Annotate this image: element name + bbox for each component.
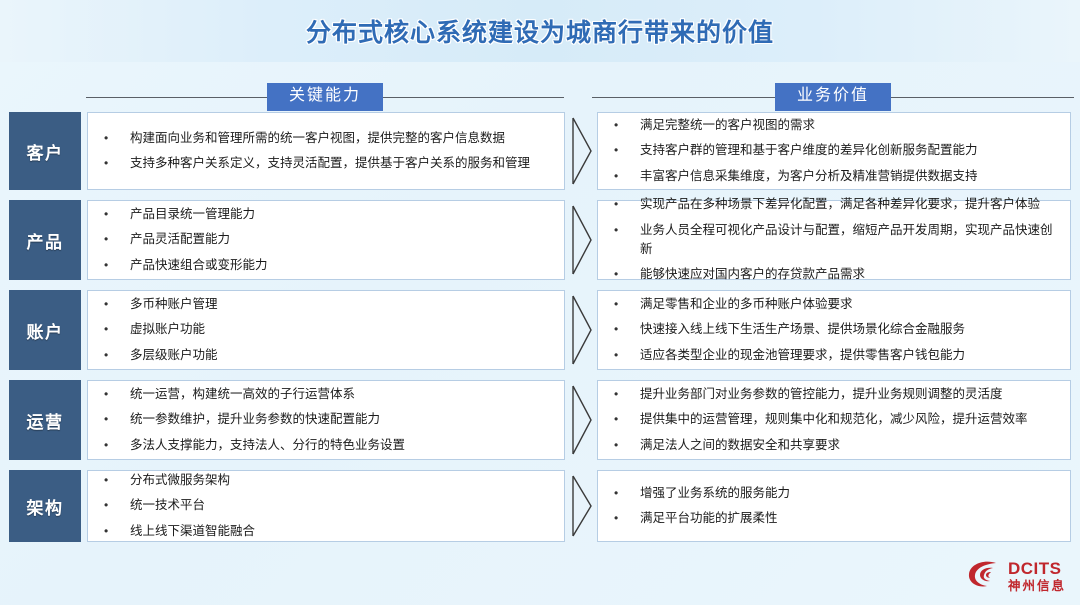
bullet-text: 构建面向业务和管理所需的统一客户视图，提供完整的客户信息数据 [130,129,554,148]
capability-box: •分布式微服务架构•统一技术平台•线上线下渠道智能融合 [87,470,565,542]
bullet-dot-icon: • [614,484,640,503]
page-title: 分布式核心系统建设为城商行带来的价值 [306,13,774,49]
value-bullet: •满足法人之间的数据安全和共享要求 [614,433,1060,458]
capability-bullet: •线上线下渠道智能融合 [104,519,554,544]
matrix-row: 账户•多币种账户管理•虚拟账户功能•多层级账户功能•满足零售和企业的多币种账户体… [0,290,1080,370]
bullet-text: 满足完整统一的客户视图的需求 [640,116,1060,135]
capability-bullet: •支持多种客户关系定义，支持灵活配置，提供基于客户关系的服务和管理 [104,151,554,176]
header-rule-right [383,97,564,98]
logo-text-cn: 神州信息 [1008,580,1066,593]
value-bullet: •增强了业务系统的服务能力 [614,481,1060,506]
company-logo: DCITS 神州信息 [966,558,1066,595]
bullet-text: 快速接入线上线下生活生产场景、提供场景化综合金融服务 [640,320,1060,339]
bullet-dot-icon: • [104,385,130,404]
bullet-text: 适应各类型企业的现金池管理要求，提供零售客户钱包能力 [640,346,1060,365]
value-bullet: •满足零售和企业的多币种账户体验要求 [614,292,1060,317]
capability-box: •统一运营，构建统一高效的子行运营体系•统一参数维护，提升业务参数的快速配置能力… [87,380,565,460]
bullet-dot-icon: • [104,154,130,173]
matrix-row: 产品•产品目录统一管理能力•产品灵活配置能力•产品快速组合或变形能力•实现产品在… [0,200,1080,280]
value-bullet: •业务人员全程可视化产品设计与配置，缩短产品开发周期，实现产品快速创新 [614,218,1060,263]
capability-box: •构建面向业务和管理所需的统一客户视图，提供完整的客户信息数据•支持多种客户关系… [87,112,565,190]
category-block[interactable]: 客户 [9,112,81,190]
capability-bullet: •产品目录统一管理能力 [104,202,554,227]
bullet-dot-icon: • [104,256,130,275]
bullet-dot-icon: • [614,265,640,284]
chevron-right-icon [571,116,593,186]
value-bullet: •能够快速应对国内客户的存贷款产品需求 [614,262,1060,287]
value-box: •增强了业务系统的服务能力•满足平台功能的扩展柔性 [597,470,1071,542]
bullet-dot-icon: • [614,346,640,365]
bullet-dot-icon: • [614,509,640,528]
matrix-row: 架构•分布式微服务架构•统一技术平台•线上线下渠道智能融合•增强了业务系统的服务… [0,470,1080,542]
bullet-text: 虚拟账户功能 [130,320,554,339]
flow-arrow-cell [565,290,597,370]
value-bullet: •满足完整统一的客户视图的需求 [614,113,1060,138]
bullet-text: 产品灵活配置能力 [130,230,554,249]
bullet-text: 满足平台功能的扩展柔性 [640,509,1060,528]
bullet-text: 满足零售和企业的多币种账户体验要求 [640,295,1060,314]
value-bullet: •提升业务部门对业务参数的管控能力，提升业务规则调整的灵活度 [614,382,1060,407]
capability-box: •产品目录统一管理能力•产品灵活配置能力•产品快速组合或变形能力 [87,200,565,280]
bullet-text: 线上线下渠道智能融合 [130,522,554,541]
category-block[interactable]: 架构 [9,470,81,542]
capability-bullet: •产品灵活配置能力 [104,227,554,252]
bullet-text: 提供集中的运营管理，规则集中化和规范化，减少风险，提升运营效率 [640,410,1060,429]
bullet-text: 提升业务部门对业务参数的管控能力，提升业务规则调整的灵活度 [640,385,1060,404]
bullet-text: 统一技术平台 [130,496,554,515]
logo-wordmark: DCITS 神州信息 [1008,560,1066,593]
value-box: •满足零售和企业的多币种账户体验要求•快速接入线上线下生活生产场景、提供场景化综… [597,290,1071,370]
category-block[interactable]: 产品 [9,200,81,280]
bullet-dot-icon: • [104,496,130,515]
capability-bullet: •多法人支撑能力，支持法人、分行的特色业务设置 [104,433,554,458]
chevron-right-icon [571,204,593,276]
bullet-dot-icon: • [614,141,640,160]
value-box: •实现产品在多种场景下差异化配置，满足各种差异化要求，提升客户体验•业务人员全程… [597,200,1071,280]
bullet-text: 支持多种客户关系定义，支持灵活配置，提供基于客户关系的服务和管理 [130,154,554,173]
header-rule-right [891,97,1074,98]
category-block[interactable]: 账户 [9,290,81,370]
header-rule-left [592,97,775,98]
bullet-text: 统一参数维护，提升业务参数的快速配置能力 [130,410,554,429]
chevron-right-icon [571,384,593,456]
capability-bullet: •构建面向业务和管理所需的统一客户视图，提供完整的客户信息数据 [104,126,554,151]
bullet-dot-icon: • [614,295,640,314]
category-block[interactable]: 运营 [9,380,81,460]
value-bullet: •提供集中的运营管理，规则集中化和规范化，减少风险，提升运营效率 [614,407,1060,432]
bullet-text: 能够快速应对国内客户的存贷款产品需求 [640,265,1060,284]
bullet-text: 产品目录统一管理能力 [130,205,554,224]
bullet-dot-icon: • [104,205,130,224]
bullet-dot-icon: • [614,116,640,135]
bullet-dot-icon: • [614,195,640,214]
bullet-dot-icon: • [104,320,130,339]
bullet-dot-icon: • [104,471,130,490]
bullet-text: 多法人支撑能力，支持法人、分行的特色业务设置 [130,436,554,455]
bullet-dot-icon: • [104,522,130,541]
matrix-rows: 客户•构建面向业务和管理所需的统一客户视图，提供完整的客户信息数据•支持多种客户… [0,112,1080,542]
flow-arrow-cell [565,470,597,542]
bullet-dot-icon: • [104,230,130,249]
column-header-business-value: 业务价值 [592,82,1074,112]
capability-bullet: •统一参数维护，提升业务参数的快速配置能力 [104,407,554,432]
capability-bullet: •统一技术平台 [104,493,554,518]
capability-bullet: •多币种账户管理 [104,292,554,317]
bullet-text: 统一运营，构建统一高效的子行运营体系 [130,385,554,404]
value-bullet: •丰富客户信息采集维度，为客户分析及精准营销提供数据支持 [614,164,1060,189]
flow-arrow-cell [565,380,597,460]
bullet-dot-icon: • [104,346,130,365]
bullet-dot-icon: • [614,320,640,339]
bullet-dot-icon: • [614,410,640,429]
chevron-right-icon [571,294,593,366]
value-bullet: •适应各类型企业的现金池管理要求，提供零售客户钱包能力 [614,343,1060,368]
bullet-text: 产品快速组合或变形能力 [130,256,554,275]
column-header-left-label: 关键能力 [267,83,383,110]
header-rule-left [86,97,267,98]
capability-bullet: •分布式微服务架构 [104,468,554,493]
value-bullet: •实现产品在多种场景下差异化配置，满足各种差异化要求，提升客户体验 [614,192,1060,217]
capability-bullet: •虚拟账户功能 [104,317,554,342]
bullet-text: 业务人员全程可视化产品设计与配置，缩短产品开发周期，实现产品快速创新 [640,221,1060,260]
column-header-key-capability: 关键能力 [86,82,564,112]
bullet-text: 实现产品在多种场景下差异化配置，满足各种差异化要求，提升客户体验 [640,195,1060,214]
bullet-dot-icon: • [104,410,130,429]
bullet-dot-icon: • [614,436,640,455]
chevron-right-icon [571,474,593,538]
value-box: •满足完整统一的客户视图的需求•支持客户群的管理和基于客户维度的差异化创新服务配… [597,112,1071,190]
dcits-swoosh-icon [966,558,1002,595]
matrix-row: 运营•统一运营，构建统一高效的子行运营体系•统一参数维护，提升业务参数的快速配置… [0,380,1080,460]
bullet-text: 多币种账户管理 [130,295,554,314]
column-headers: 关键能力 业务价值 [0,82,1080,112]
bullet-dot-icon: • [614,167,640,186]
column-header-right-label: 业务价值 [775,83,891,110]
value-bullet: •支持客户群的管理和基于客户维度的差异化创新服务配置能力 [614,138,1060,163]
bullet-dot-icon: • [614,221,640,240]
bullet-text: 满足法人之间的数据安全和共享要求 [640,436,1060,455]
capability-bullet: •多层级账户功能 [104,343,554,368]
bullet-dot-icon: • [614,385,640,404]
flow-arrow-cell [565,112,597,190]
bullet-text: 分布式微服务架构 [130,471,554,490]
bullet-dot-icon: • [104,436,130,455]
value-bullet: •满足平台功能的扩展柔性 [614,506,1060,531]
bullet-text: 多层级账户功能 [130,346,554,365]
value-box: •提升业务部门对业务参数的管控能力，提升业务规则调整的灵活度•提供集中的运营管理… [597,380,1071,460]
capability-bullet: •产品快速组合或变形能力 [104,253,554,278]
flow-arrow-cell [565,200,597,280]
bullet-text: 增强了业务系统的服务能力 [640,484,1060,503]
bullet-dot-icon: • [104,295,130,314]
bullet-text: 丰富客户信息采集维度，为客户分析及精准营销提供数据支持 [640,167,1060,186]
capability-box: •多币种账户管理•虚拟账户功能•多层级账户功能 [87,290,565,370]
title-banner: 分布式核心系统建设为城商行带来的价值 [0,0,1080,62]
logo-text-en: DCITS [1008,560,1066,577]
bullet-text: 支持客户群的管理和基于客户维度的差异化创新服务配置能力 [640,141,1060,160]
bullet-dot-icon: • [104,129,130,148]
value-bullet: •快速接入线上线下生活生产场景、提供场景化综合金融服务 [614,317,1060,342]
matrix-row: 客户•构建面向业务和管理所需的统一客户视图，提供完整的客户信息数据•支持多种客户… [0,112,1080,190]
capability-bullet: •统一运营，构建统一高效的子行运营体系 [104,382,554,407]
